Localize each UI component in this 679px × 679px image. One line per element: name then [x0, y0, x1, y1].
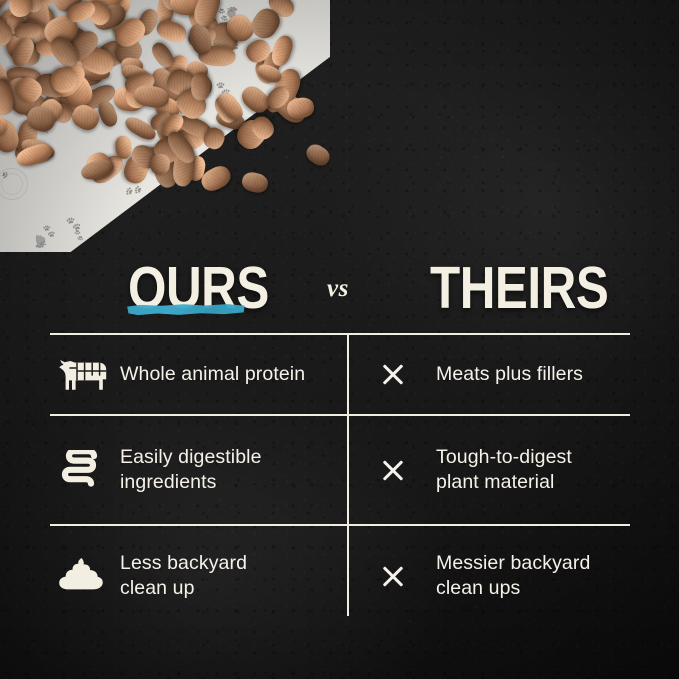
intestine-icon	[58, 450, 120, 490]
comparison-table: Whole animal protein Meats plus fillers	[50, 333, 630, 626]
theirs-cell: Messier backyard clean ups	[348, 526, 630, 626]
table-row: Whole animal protein Meats plus fillers	[50, 335, 630, 416]
table-row: Easily digestible ingredients Tough-to-d…	[50, 416, 630, 526]
ours-feature-text: Easily digestible ingredients	[120, 445, 262, 495]
x-icon	[380, 458, 436, 483]
theirs-cell: Tough-to-digest plant material	[348, 416, 630, 524]
poop-icon	[58, 556, 120, 596]
comparison-headings: OURS vs THEIRS	[50, 255, 630, 333]
x-icon	[380, 362, 436, 387]
kibble-piece	[14, 23, 42, 39]
table-row: Less backyard clean up Messier backyard …	[50, 526, 630, 626]
theirs-feature-text: Meats plus fillers	[436, 362, 583, 387]
ours-cell: Whole animal protein	[50, 335, 348, 414]
ours-cell: Easily digestible ingredients	[50, 416, 348, 524]
cow-icon	[58, 355, 120, 395]
ours-feature-text: Less backyard clean up	[120, 551, 247, 601]
heading-vs: vs	[327, 275, 349, 303]
comparison-block: OURS vs THEIRS	[50, 255, 630, 626]
theirs-feature-text: Messier backyard clean ups	[436, 551, 590, 601]
x-icon	[380, 564, 436, 589]
ours-underline-brushstroke	[126, 303, 246, 315]
heading-theirs: THEIRS	[430, 259, 608, 318]
theirs-feature-text: Tough-to-digest plant material	[436, 445, 572, 495]
kibble-piece	[191, 72, 211, 100]
ours-feature-text: Whole animal protein	[120, 362, 305, 387]
ours-cell: Less backyard clean up	[50, 526, 348, 626]
theirs-cell: Meats plus fillers	[348, 335, 630, 414]
column-divider	[347, 335, 349, 616]
comparison-infographic: 🐾🐾🐾🐔🐾🐾🐔🐾🐾🐾🐾🐾🐟🐾🐔🐾🐟🐾🐾🐔🐾🐾🐔🐾🐾🐾🐾🐾🐾🐔🐾🐔🐾🐾 OURS …	[0, 0, 679, 679]
